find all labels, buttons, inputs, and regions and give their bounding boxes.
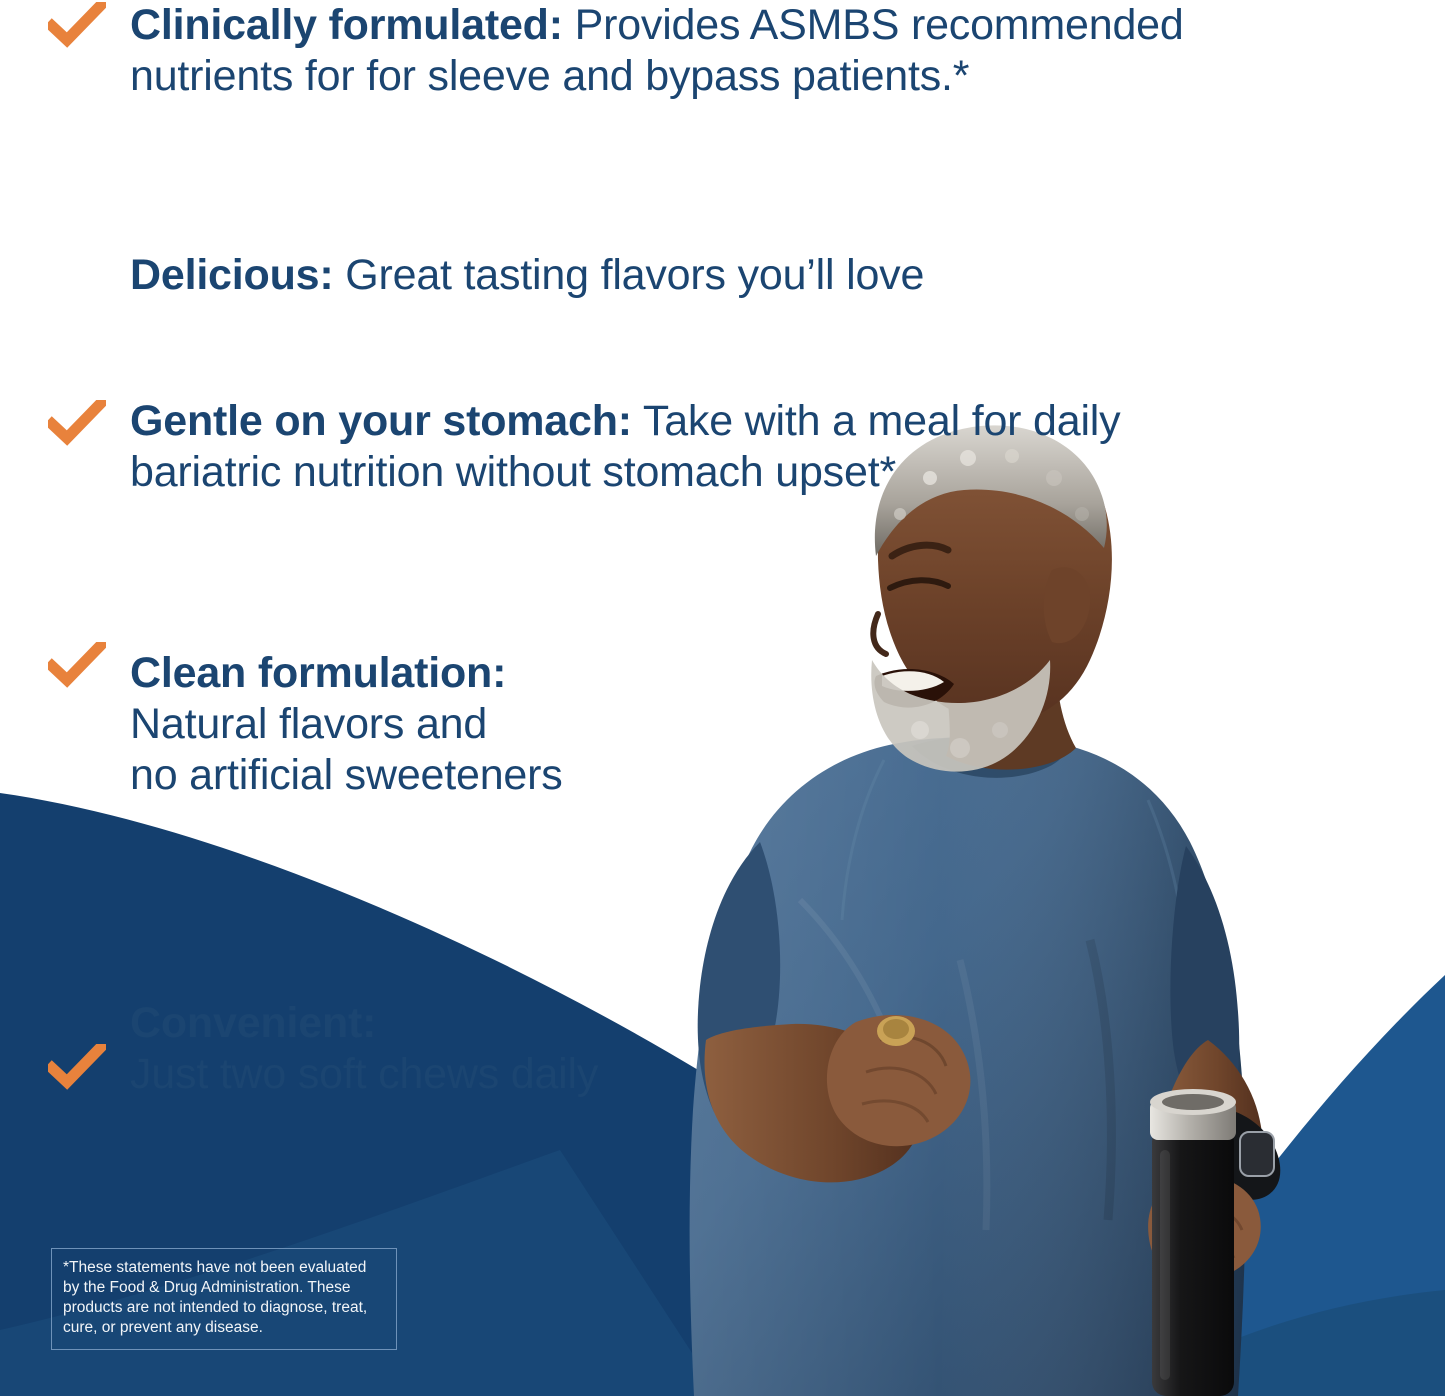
benefit-item-convenient: Convenient: Just two soft chews daily bbox=[0, 998, 1410, 1100]
benefit-heading-delicious: Delicious: bbox=[130, 251, 334, 299]
benefit-item-clean: Clean formulation: Natural flavors and n… bbox=[0, 648, 1410, 801]
benefit-text-gentle: Gentle on your stomach: Take with a meal… bbox=[130, 396, 1410, 498]
benefit-heading-convenient: Convenient: bbox=[130, 999, 376, 1047]
marketing-banner: Clinically formulated: Provides ASMBS re… bbox=[0, 0, 1445, 1396]
benefit-body-clean: Natural flavors and no artificial sweete… bbox=[130, 700, 563, 799]
benefit-heading-gentle: Gentle on your stomach: bbox=[130, 397, 632, 445]
benefit-body-convenient: Just two soft chews daily bbox=[130, 1050, 598, 1098]
benefit-body-delicious: Great tasting flavors you’ll love bbox=[334, 251, 925, 299]
benefit-heading-clean: Clean formulation: bbox=[130, 649, 506, 697]
benefit-text-convenient: Convenient: Just two soft chews daily bbox=[130, 998, 1410, 1100]
benefit-heading-clinical: Clinically formulated: bbox=[130, 1, 563, 49]
benefit-item-gentle: Gentle on your stomach: Take with a meal… bbox=[0, 396, 1410, 498]
check-icon bbox=[48, 2, 106, 48]
benefit-text-clean: Clean formulation: Natural flavors and n… bbox=[130, 648, 1410, 801]
fda-disclaimer-text: *These statements have not been evaluate… bbox=[63, 1258, 385, 1338]
benefit-text-delicious: Delicious: Great tasting flavors you’ll … bbox=[130, 250, 1410, 301]
benefit-text-clinical: Clinically formulated: Provides ASMBS re… bbox=[130, 0, 1410, 102]
benefit-item-delicious: Delicious: Great tasting flavors you’ll … bbox=[0, 250, 1410, 301]
fda-disclaimer-box: *These statements have not been evaluate… bbox=[51, 1248, 397, 1350]
benefit-item-clinical: Clinically formulated: Provides ASMBS re… bbox=[0, 0, 1410, 102]
benefits-list: Clinically formulated: Provides ASMBS re… bbox=[0, 0, 1410, 510]
